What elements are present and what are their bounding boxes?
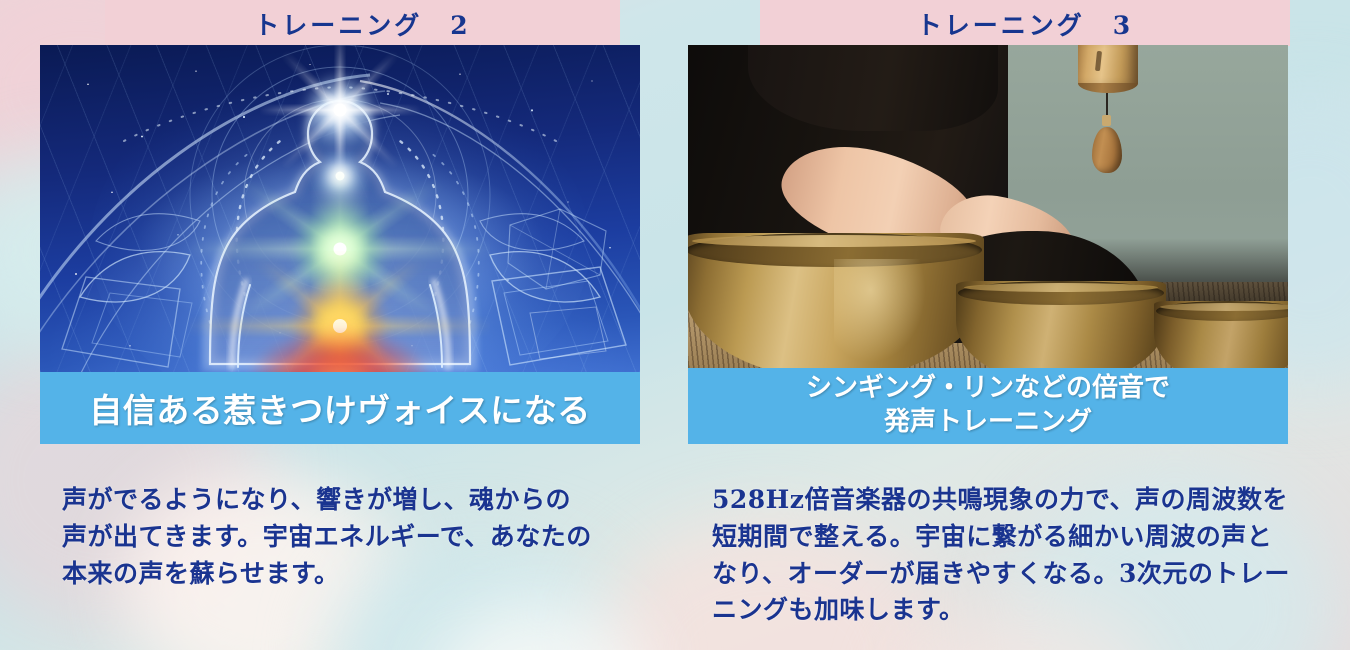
training-2-caption-bar: 自信ある惹きつけヴォイスになる (40, 372, 640, 444)
singing-bowl-small-rim-highlight (1160, 303, 1288, 311)
training-2-caption-line: 自信ある惹きつけヴォイスになる (89, 384, 591, 432)
singing-bowl-large (688, 233, 984, 368)
singing-bowl-large-rim-highlight (692, 235, 976, 247)
training-2-card: 自信ある惹きつけヴォイスになる (40, 45, 640, 444)
singing-bowl-small (1154, 301, 1288, 368)
singing-bowl-medium-rim-highlight (964, 283, 1158, 292)
training-2-header-label: トレーニング 2 (254, 6, 470, 42)
training-3-header-band: トレーニング 3 (760, 0, 1290, 46)
singing-bowl-medium (956, 281, 1166, 368)
wind-chime-knot (1102, 115, 1111, 126)
wind-chime-cord (1106, 93, 1108, 117)
training-3-header-label: トレーニング 3 (917, 6, 1133, 42)
training-3-caption-line-2: 発声トレーニング (884, 406, 1092, 440)
singing-bowls-photo-image (688, 45, 1288, 368)
training-3-card: シンギング・リンなどの倍音で 発声トレーニング (688, 45, 1288, 444)
training-2-header-band: トレーニング 2 (105, 0, 620, 46)
wind-chime-tube (1078, 45, 1138, 87)
chakra-crown-core (334, 104, 347, 117)
training-3-caption-line-1: シンギング・リンなどの倍音で (806, 372, 1170, 406)
singing-bowl-large-sheen (834, 259, 926, 363)
training-2-body-text: 声がでるようになり、響きが増し、魂からの声が出てきます。宇宙エネルギーで、あなた… (62, 482, 592, 592)
chakra-aura-meditation-figure-image (40, 45, 640, 372)
training-3-body-text: 528Hz倍音楽器の共鳴現象の力で、声の周波数を短期間で整える。宇宙に繋がる細か… (712, 482, 1292, 629)
wind-chime-clapper (1092, 127, 1122, 173)
training-3-caption-bar: シンギング・リンなどの倍音で 発声トレーニング (688, 368, 1288, 444)
